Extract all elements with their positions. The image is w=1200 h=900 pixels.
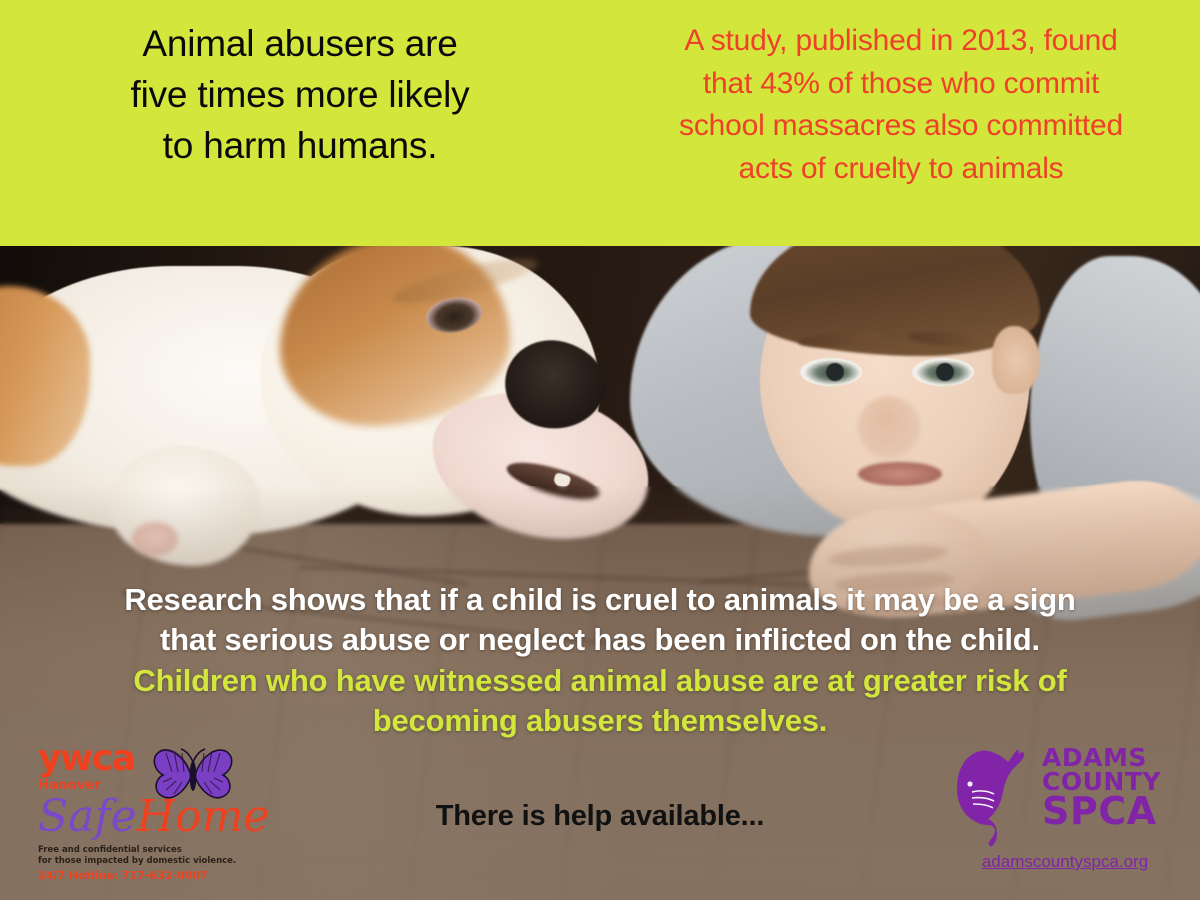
header-left-line-1: Animal abusers are: [0, 18, 600, 69]
header-right-line-3: school massacres also committed: [618, 105, 1184, 148]
infographic-poster: Animal abusers are five times more likel…: [0, 0, 1200, 900]
boy-ear: [992, 326, 1040, 394]
header-right-line-4: acts of cruelty to animals: [618, 148, 1184, 191]
boy-nose: [858, 396, 920, 458]
header-right-line-2: that 43% of those who commit: [618, 63, 1184, 106]
ywca-safe-home-logo[interactable]: ywca Hanover SafeHome Free and confident…: [38, 742, 278, 882]
body-green-line-1: Children who have witnessed animal abuse…: [0, 661, 1200, 701]
ywca-tagline-line-2: for those impacted by domestic violence.: [38, 856, 278, 867]
body-white-line-2: that serious abuse or neglect has been i…: [0, 620, 1200, 660]
ywca-hotline[interactable]: 24/7 Hotline: 717-632-0007: [38, 869, 278, 882]
spca-wordmark: ADAMS COUNTY SPCA: [1042, 746, 1161, 829]
header-right-line-1: A study, published in 2013, found: [618, 20, 1184, 63]
boy-pupil-right: [936, 363, 954, 381]
spca-line-spca: SPCA: [1042, 793, 1161, 829]
header-left-line-2: five times more likely: [0, 69, 600, 120]
safe-word: Safe: [38, 791, 137, 842]
boy-mouth: [858, 462, 942, 486]
adams-county-spca-logo[interactable]: ADAMS COUNTY SPCA adamscountyspca.org: [950, 748, 1180, 878]
boy-pupil-left: [826, 363, 844, 381]
body-white-line-1: Research shows that if a child is cruel …: [0, 580, 1200, 620]
ywca-tagline: Free and confidential services for those…: [38, 845, 278, 866]
body-copy: Research shows that if a child is cruel …: [0, 580, 1200, 741]
body-green-line-2: becoming abusers themselves.: [0, 701, 1200, 741]
header-left-statement: Animal abusers are five times more likel…: [0, 0, 600, 171]
ywca-tagline-line-1: Free and confidential services: [38, 845, 278, 856]
dog-cat-silhouette-icon: [950, 748, 1040, 848]
butterfly-icon: [150, 744, 236, 806]
header-right-statistic: A study, published in 2013, found that 4…: [600, 0, 1200, 190]
header-band: Animal abusers are five times more likel…: [0, 0, 1200, 246]
header-left-line-3: to harm humans.: [0, 120, 600, 171]
spca-website-link[interactable]: adamscountyspca.org: [952, 852, 1178, 872]
